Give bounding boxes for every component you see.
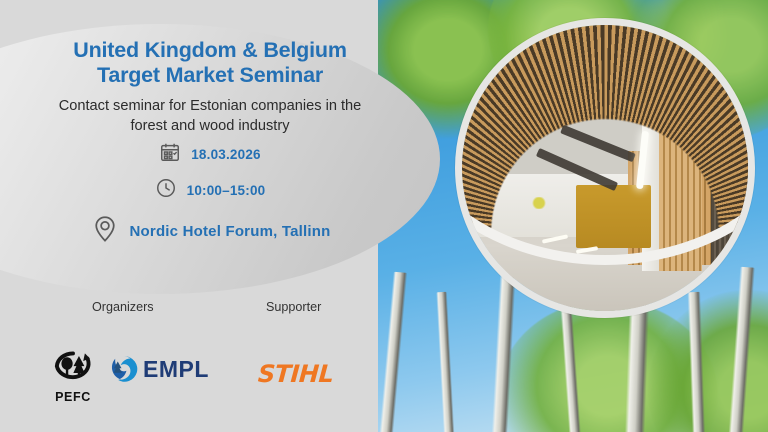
subtitle-line-2: forest and wood industry xyxy=(131,118,290,134)
partner-logos: PEFC EMPL STIHL xyxy=(0,322,400,392)
subtitle-line-1: Contact seminar for Estonian companies i… xyxy=(59,98,362,114)
pefc-logo: PEFC xyxy=(46,350,100,404)
title-line-1: United Kingdom & Belgium xyxy=(73,38,347,62)
empl-logo-text: EMPL xyxy=(143,356,209,383)
location-pin-icon xyxy=(90,214,120,249)
calendar-icon xyxy=(159,141,181,168)
event-date: 18.03.2026 xyxy=(191,147,261,162)
empl-logo: EMPL xyxy=(108,354,209,384)
organizers-label: Organizers xyxy=(92,300,154,314)
stihl-logo: STIHL xyxy=(258,360,333,388)
clock-icon xyxy=(155,177,177,204)
seminar-poster: United Kingdom & Belgium Target Market S… xyxy=(0,0,768,432)
event-details: 18.03.2026 10:00–15:00 xyxy=(0,141,420,249)
pefc-logo-text: PEFC xyxy=(46,390,100,404)
event-time: 10:00–15:00 xyxy=(187,183,266,198)
event-venue: Nordic Hotel Forum, Tallinn xyxy=(130,223,331,240)
title-line-2: Target Market Seminar xyxy=(97,63,323,87)
poster-content: United Kingdom & Belgium Target Market S… xyxy=(0,0,420,432)
page-title: United Kingdom & Belgium Target Market S… xyxy=(34,38,386,89)
event-venue-row: Nordic Hotel Forum, Tallinn xyxy=(0,214,420,249)
event-date-row: 18.03.2026 xyxy=(0,141,420,168)
empl-swoosh-icon xyxy=(108,354,138,384)
supporter-label: Supporter xyxy=(266,300,321,314)
circle-interior-photo xyxy=(455,18,755,318)
pefc-tree-circle-icon xyxy=(52,350,94,384)
partners-section: Organizers Supporter PEFC xyxy=(0,300,400,392)
page-subtitle: Contact seminar for Estonian companies i… xyxy=(44,97,376,136)
event-time-row: 10:00–15:00 xyxy=(0,177,420,204)
stihl-logo-text: STIHL xyxy=(257,360,334,388)
partner-labels: Organizers Supporter xyxy=(0,300,400,322)
